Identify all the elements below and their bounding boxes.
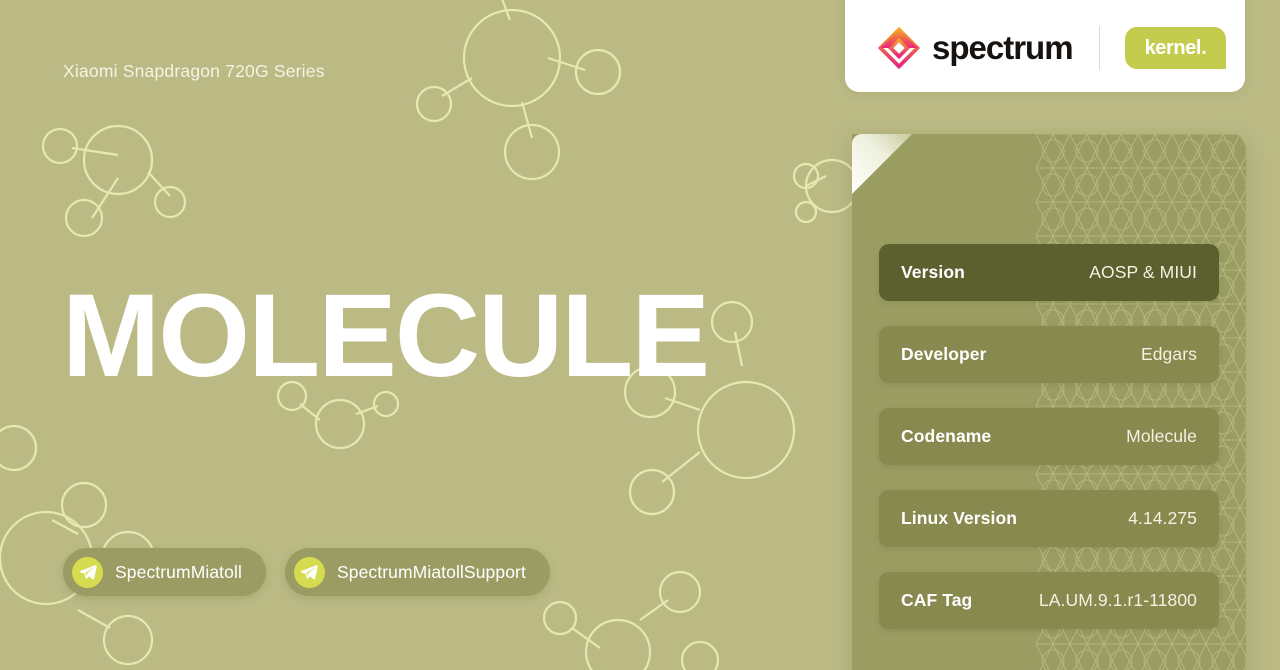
page-title: MOLECULE [62, 277, 708, 395]
spec-row-key: Codename [901, 426, 991, 447]
telegram-chip-label: SpectrumMiatollSupport [337, 562, 526, 583]
brand-bar: spectrum kernel. [845, 0, 1245, 92]
social-links: SpectrumMiatoll SpectrumMiatollSupport [63, 548, 550, 596]
telegram-icon [72, 557, 103, 588]
card-folded-corner-icon [852, 134, 912, 194]
telegram-chip-channel[interactable]: SpectrumMiatoll [63, 548, 266, 596]
page-subtitle: Xiaomi Snapdragon 720G Series [63, 61, 325, 82]
brand-wordmark: spectrum [932, 29, 1073, 67]
poster-canvas: Xiaomi Snapdragon 720G Series MOLECULE S… [0, 0, 1280, 670]
spec-row-caf-tag[interactable]: CAF Tag LA.UM.9.1.r1-11800 [879, 572, 1219, 629]
spec-rows: Version AOSP & MIUI Developer Edgars Cod… [879, 244, 1219, 629]
spec-row-codename[interactable]: Codename Molecule [879, 408, 1219, 465]
spec-row-key: Developer [901, 344, 987, 365]
spec-row-key: Linux Version [901, 508, 1017, 529]
spec-row-key: Version [901, 262, 965, 283]
spec-row-value: LA.UM.9.1.r1-11800 [1039, 590, 1197, 611]
telegram-chip-label: SpectrumMiatoll [115, 562, 242, 583]
spec-row-developer[interactable]: Developer Edgars [879, 326, 1219, 383]
spec-card: Version AOSP & MIUI Developer Edgars Cod… [852, 134, 1246, 670]
brand-inner: spectrum kernel. [845, 22, 1245, 74]
spectrum-diamond-logo-icon [878, 27, 920, 69]
spec-row-version[interactable]: Version AOSP & MIUI [879, 244, 1219, 301]
spec-row-linux-version[interactable]: Linux Version 4.14.275 [879, 490, 1219, 547]
spec-row-value: AOSP & MIUI [1089, 262, 1197, 283]
telegram-icon [294, 557, 325, 588]
spec-row-value: Edgars [1141, 344, 1197, 365]
brand-divider [1099, 26, 1100, 70]
spec-row-value: 4.14.275 [1128, 508, 1197, 529]
telegram-chip-support[interactable]: SpectrumMiatollSupport [285, 548, 550, 596]
spec-row-key: CAF Tag [901, 590, 972, 611]
kernel-badge: kernel. [1125, 27, 1227, 69]
spec-row-value: Molecule [1126, 426, 1197, 447]
